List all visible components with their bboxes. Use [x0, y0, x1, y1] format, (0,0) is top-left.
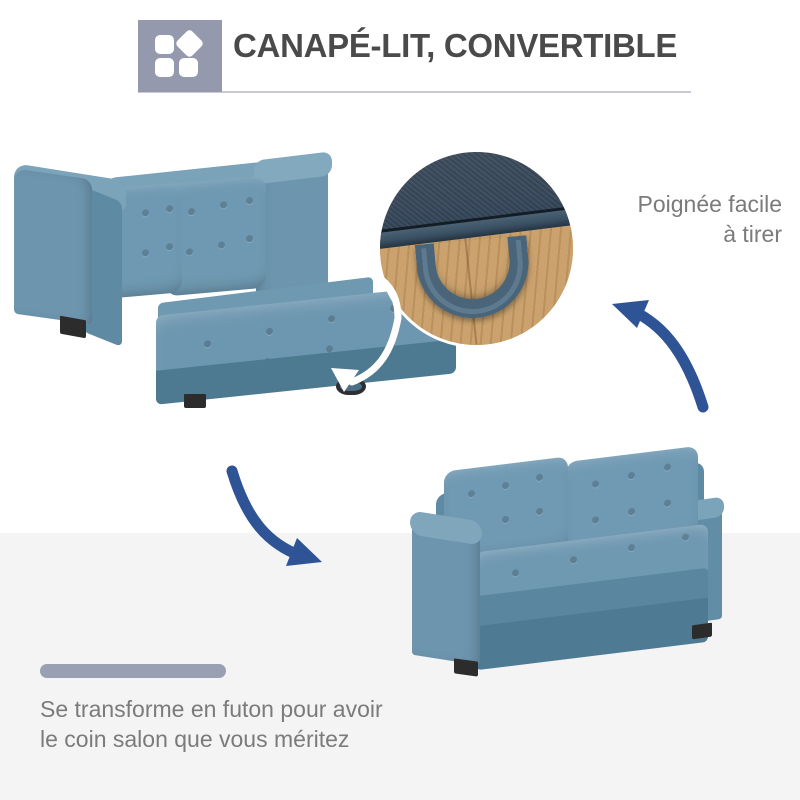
grid-square-bottom-right	[179, 58, 198, 77]
bottom-caption-line1: Se transforme en futon pour avoir	[40, 694, 470, 724]
infographic-page: CANAPÉ-LIT, CONVERTIBLE	[0, 0, 800, 800]
bottom-caption-line2: le coin salon que vous méritez	[40, 724, 470, 754]
sofa-left-foot	[454, 658, 478, 676]
blue-curved-arrow-to-detail	[612, 300, 703, 407]
grid-diamond-top-right	[175, 29, 205, 59]
page-title: CANAPÉ-LIT, CONVERTIBLE	[233, 27, 677, 65]
bed-front-foot	[184, 394, 206, 408]
handle-callout-line1: Poignée facile	[578, 190, 782, 220]
pull-handle-detail-photo	[377, 149, 576, 348]
bed-left-foot	[60, 316, 86, 339]
header-badge	[138, 20, 222, 92]
handle-callout-line2: à tirer	[578, 220, 782, 250]
bottom-caption: Se transforme en futon pour avoir le coi…	[40, 694, 470, 755]
grid-square-bottom-left	[155, 58, 174, 77]
handle-callout: Poignée facile à tirer	[578, 190, 782, 250]
caption-accent-bar	[40, 664, 226, 678]
sofa-right-foot	[692, 623, 712, 640]
grid-square-top-left	[155, 35, 174, 54]
four-square-grid-icon	[154, 33, 206, 79]
pull-handle-tab	[336, 378, 366, 395]
sofa-folded-photo	[398, 442, 728, 692]
bed-left-arm	[14, 169, 92, 325]
header: CANAPÉ-LIT, CONVERTIBLE	[0, 0, 800, 100]
